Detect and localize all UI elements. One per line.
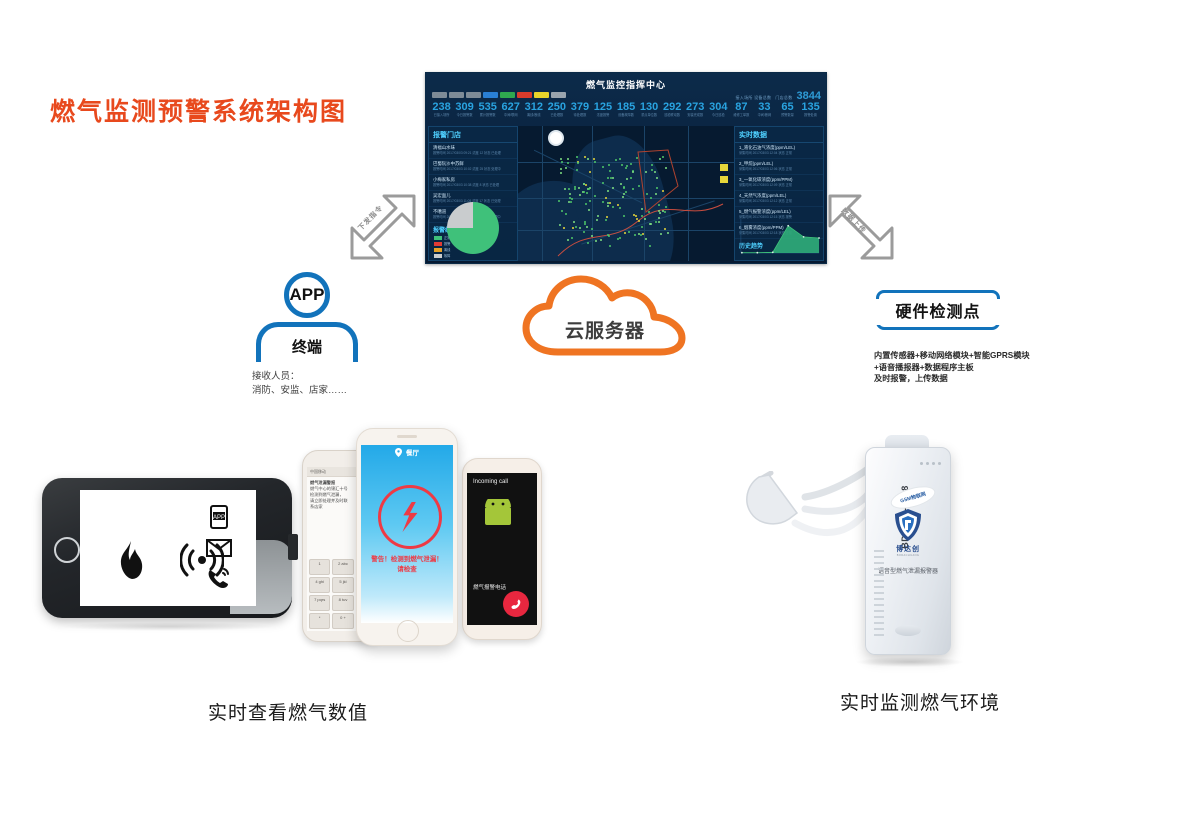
dashboard-realtime-panel: 实时数据 1_液化石油气浓度(ppm/LEL)采集时间 2017/03/03 1…	[734, 126, 824, 261]
alarm-panel-title: 报警门店	[429, 127, 517, 143]
map-dot	[563, 227, 565, 229]
cloud-server-node: 云服务器	[520, 272, 690, 360]
kpi-caption: 设备故障数	[615, 113, 638, 118]
map-dot	[615, 159, 617, 161]
kpi-caption: 浓度报警	[591, 113, 614, 118]
kpi-item-1: 309今日报警数	[453, 101, 476, 125]
keypad-key[interactable]: 8 tuv	[332, 595, 353, 611]
legend-label: 离线	[444, 247, 450, 252]
realtime-reading-meta: 采集时间 2017/03/03 12:09 状态 正常	[739, 183, 819, 188]
map-dot	[586, 192, 588, 194]
gas-alert-phone: 餐厅 警告！检测到燃气泄漏！ 请检查	[356, 428, 458, 646]
map-dot	[579, 194, 581, 196]
flame-icon	[116, 540, 146, 580]
keypad-key[interactable]: 4 ghi	[309, 577, 330, 593]
kpi-value: 312	[522, 101, 545, 113]
alarm-store-meta: 报警时间 2017/03/03 10:02 浓度 25 状态 处理中	[433, 167, 513, 172]
cloud-server-label: 云服务器	[520, 316, 690, 343]
phone-alert-channel-icons: APP	[196, 500, 242, 596]
app-body-shape: 终端	[256, 322, 358, 362]
realtime-reading-meta: 采集时间 2017/03/03 12:06 状态 正常	[739, 167, 819, 172]
alarm-store-row[interactable]: 清福山水味报警时间 2017/03/03 09:21 浓度 12 状态 已处理	[429, 143, 517, 159]
map-dot	[578, 187, 580, 189]
kpi-caption: 累计报警数	[476, 113, 499, 118]
map-dot	[583, 191, 585, 193]
landscape-phone-mockup: APP	[42, 478, 292, 618]
alarm-store-row[interactable]: 小梅家私房报警时间 2017/03/03 10:38 浓度 8 状态 已处理	[429, 175, 517, 191]
phone-screen[interactable]: APP	[80, 490, 256, 606]
map-dot	[658, 204, 660, 206]
mid-phone-home-button[interactable]	[397, 620, 419, 642]
status-chip-5	[517, 92, 532, 98]
kpi-caption: 巡检联动数	[661, 113, 684, 118]
map-dot	[573, 221, 575, 223]
map-dot	[665, 167, 667, 169]
kpi-item-5: 250已处理数	[545, 101, 568, 125]
kpi-value: 250	[545, 101, 568, 113]
kpi-caption: 今日巡检	[707, 113, 730, 118]
trend-point	[818, 237, 820, 239]
kpi-value: 309	[453, 101, 476, 113]
kpi-caption: 安装完成数	[684, 113, 707, 118]
kpi-value: 273	[684, 101, 707, 113]
app-label: APP	[290, 285, 325, 305]
kpi-caption: 中间/断网	[753, 113, 776, 118]
keypad-key[interactable]: 7 pqrs	[309, 595, 330, 611]
map-dot	[656, 187, 658, 189]
status-chip-7	[551, 92, 566, 98]
hardware-desc-line-1: 内置传感器+移动网络模块+智能GPRS模块	[874, 350, 1030, 362]
keypad-key[interactable]: *	[309, 613, 330, 629]
hardware-desc-line-2: +语音播报器+数据程序主板	[874, 362, 1030, 374]
kpi-item-4: 312离线/断线	[522, 101, 545, 125]
app-terminal-node: APP 终端	[252, 272, 362, 362]
arrow-upload-up: 数据上传	[824, 192, 900, 264]
kpi-item-11: 273安装完成数	[684, 101, 707, 125]
kpi-item-9: 130重点单位数	[638, 101, 661, 125]
power-plug-icon	[735, 471, 813, 533]
legend-label: 报警	[444, 241, 450, 246]
kpi-item-14: 33中间/断网	[753, 101, 776, 125]
map-dot	[584, 223, 586, 225]
gas-alert-message: 警告！检测到燃气泄漏！ 请检查	[361, 555, 453, 575]
hardware-detection-node: 硬件检测点	[876, 290, 1000, 330]
map-dot	[650, 197, 652, 199]
alarm-pie-chart	[447, 202, 499, 254]
kpi-item-3: 627中间/联网	[499, 101, 522, 125]
map-dot	[559, 224, 561, 226]
keypad-key[interactable]: 2 abc	[332, 559, 353, 575]
realtime-reading-row[interactable]: 1_液化石油气浓度(ppm/LEL)采集时间 2017/03/03 12:04 …	[735, 143, 823, 159]
map-dot	[659, 158, 661, 160]
map-dot	[607, 177, 609, 179]
kpi-item-2: 535累计报警数	[476, 101, 499, 125]
map-dot	[571, 198, 573, 200]
map-dot	[558, 200, 560, 202]
incoming-call-text: Incoming call	[467, 473, 537, 485]
alarm-store-meta: 报警时间 2017/03/03 09:21 浓度 12 状态 已处理	[433, 151, 513, 156]
alarm-store-row[interactable]: 巴蜀阮沙中苏鲜报警时间 2017/03/03 10:02 浓度 25 状态 处理…	[429, 159, 517, 175]
map-dot	[593, 158, 595, 160]
terminal-label: 终端	[292, 336, 322, 357]
map-dot	[664, 211, 666, 213]
gsm-badge-label: GSM物联网	[899, 491, 926, 505]
map-dot	[565, 213, 567, 215]
device-indicator-led	[895, 625, 921, 636]
realtime-panel-title: 实时数据	[735, 127, 823, 143]
caption-left: 实时查看燃气数值	[208, 698, 368, 725]
map-dot	[625, 191, 627, 193]
app-receivers-description: 接收人员： 消防、安监、店家……	[252, 370, 347, 398]
arrow-command-down: 下发指令	[344, 192, 420, 264]
gas-alert-line-1: 警告！检测到燃气泄漏！	[361, 555, 453, 565]
phone-handset-icon	[509, 597, 523, 611]
map-dot	[570, 201, 572, 203]
realtime-reading-row[interactable]: 3_一氧化碳浓度(ppm/PPM)采集时间 2017/03/03 12:09 状…	[735, 175, 823, 191]
map-dot	[595, 240, 597, 242]
map-dot	[585, 203, 587, 205]
map-dot	[625, 167, 627, 169]
kpi-caption: 已接入场所	[430, 113, 453, 118]
map-dot	[665, 206, 667, 208]
kpi-value: 185	[615, 101, 638, 113]
phone-cluster: 中国移动 燃气泄漏警报 燃气中心的锦汇十号检测到燃气泄漏，请立即处理并及时联系店…	[302, 428, 542, 648]
kpi-value: 87	[730, 101, 753, 113]
trend-point	[787, 225, 789, 227]
receivers-line-1: 接收人员：	[252, 370, 347, 384]
android-robot-icon	[481, 499, 515, 529]
map-dot	[659, 212, 661, 214]
map-dot	[656, 177, 658, 179]
kpi-item-12: 304今日巡检	[707, 101, 730, 125]
map-dot	[564, 188, 566, 190]
kpi-value: 135	[799, 101, 822, 113]
gas-alert-line-2: 请检查	[361, 565, 453, 575]
status-chip-0	[432, 92, 447, 98]
legend-label: 故障	[444, 253, 450, 258]
gas-detector-device: BDC-YD-8668 GSM物联网 博达创 BODACHUANG 语音型燃气泄…	[735, 425, 1035, 670]
incoming-call-phone: Incoming call 燃气报警电话	[462, 458, 542, 640]
map-dot	[567, 158, 569, 160]
hardware-description: 内置传感器+移动网络模块+智能GPRS模块 +语音播报器+数据程序主板 及时报警…	[874, 350, 1030, 385]
map-dot	[594, 161, 596, 163]
map-dot	[589, 200, 591, 202]
caller-name: 燃气报警电话	[473, 583, 506, 591]
map-dot	[619, 237, 621, 239]
device-shadow	[855, 657, 965, 667]
kpi-item-16: 135报警处置	[799, 101, 822, 125]
map-dot	[574, 186, 576, 188]
map-dot	[575, 226, 577, 228]
map-dot	[609, 170, 611, 172]
map-dot	[568, 201, 570, 203]
trend-point	[741, 252, 743, 254]
realtime-reading-meta: 采集时间 2017/03/03 12:04 状态 正常	[739, 151, 819, 156]
map-dot	[620, 183, 622, 185]
gas-alert-screen[interactable]: 餐厅 警告！检测到燃气泄漏！ 请检查	[361, 445, 453, 623]
map-highlight-route	[518, 126, 734, 261]
kpi-item-0: 238已接入场所	[430, 101, 453, 125]
map-dot	[591, 228, 593, 230]
map-dot	[600, 239, 602, 241]
keypad-key[interactable]: 1	[309, 559, 330, 575]
realtime-reading-row[interactable]: 4_天然气浓度(ppm/LEL)采集时间 2017/03/03 12:12 状态…	[735, 191, 823, 207]
kpi-caption: 重点单位数	[638, 113, 661, 118]
phone-speaker-notch	[397, 435, 417, 438]
status-chip-4	[500, 92, 515, 98]
map-dot	[608, 164, 610, 166]
dashboard-map[interactable]	[518, 126, 734, 261]
device-sensor-grill	[874, 550, 884, 636]
hardware-desc-line-3: 及时报警，上传数据	[874, 373, 1030, 385]
location-pin-icon	[395, 448, 402, 457]
map-dot	[612, 177, 614, 179]
app-phone-icon: APP	[209, 505, 229, 529]
status-chip-2	[466, 92, 481, 98]
decline-call-icon[interactable]	[503, 591, 529, 617]
trend-point	[772, 251, 774, 253]
dashboard-kpi-row: 238已接入场所309今日报警数535累计报警数627中间/联网312离线/断线…	[430, 101, 822, 125]
map-dot	[560, 158, 562, 160]
map-dot	[623, 186, 625, 188]
svg-text:APP: APP	[213, 515, 225, 521]
map-dot	[617, 204, 619, 206]
map-dot	[651, 169, 653, 171]
kpi-caption: 待处理数	[568, 113, 591, 118]
phone-side-button[interactable]	[288, 534, 298, 560]
kpi-value: 379	[568, 101, 591, 113]
device-body: BDC-YD-8668 GSM物联网 博达创 BODACHUANG 语音型燃气泄…	[865, 447, 951, 655]
kpi-value: 65	[776, 101, 799, 113]
kpi-value: 535	[476, 101, 499, 113]
caption-right: 实时监测燃气环境	[840, 688, 1000, 715]
kpi-item-7: 125浓度报警	[591, 101, 614, 125]
phone-home-button[interactable]	[54, 537, 80, 563]
map-dot	[623, 193, 625, 195]
map-dot	[638, 220, 640, 222]
map-dot	[655, 221, 657, 223]
kpi-item-15: 65预警数量	[776, 101, 799, 125]
legend-swatch	[434, 236, 442, 240]
kpi-value: 292	[661, 101, 684, 113]
kpi-value: 238	[430, 101, 453, 113]
status-chip-1	[449, 92, 464, 98]
kpi-value: 304	[707, 101, 730, 113]
phone-shadow	[60, 622, 275, 631]
trend-point	[803, 236, 805, 238]
envelope-icon	[206, 539, 232, 557]
status-chip-3	[483, 92, 498, 98]
alarm-store-meta: 报警时间 2017/03/03 10:38 浓度 8 状态 已处理	[433, 183, 513, 188]
brand-shield-icon	[893, 508, 923, 542]
history-trend-chart	[737, 213, 821, 257]
command-center-dashboard: 燃气监控指挥中心 接入场所 设备总数 门店总数 3844 238已接入场所309…	[425, 72, 827, 264]
realtime-reading-row[interactable]: 2_甲烷(ppm/LEL)采集时间 2017/03/03 12:06 状态 正常	[735, 159, 823, 175]
map-dot	[638, 185, 640, 187]
map-dot	[612, 187, 614, 189]
device-vent-holes	[920, 462, 941, 465]
kpi-value: 33	[753, 101, 776, 113]
kpi-caption: 离线/断线	[522, 113, 545, 118]
page-title: 燃气监测预警系统架构图	[50, 92, 347, 128]
hardware-label: 硬件检测点	[895, 298, 980, 322]
gas-leak-alert-icon	[378, 485, 442, 549]
kpi-item-10: 292巡检联动数	[661, 101, 684, 125]
call-phone-screen[interactable]: Incoming call 燃气报警电话	[467, 473, 537, 625]
alert-app-header: 餐厅	[361, 445, 453, 459]
map-dot	[602, 182, 604, 184]
map-dot	[621, 164, 623, 166]
app-head-circle: APP	[284, 272, 330, 318]
map-dot	[628, 231, 630, 233]
dashboard-alarm-store-panel: 报警门店 清福山水味报警时间 2017/03/03 09:21 浓度 12 状态…	[428, 126, 518, 261]
map-dot	[658, 221, 660, 223]
status-chip-6	[534, 92, 549, 98]
kpi-caption: 今日报警数	[453, 113, 476, 118]
kpi-caption: 预警数量	[776, 113, 799, 118]
kpi-value: 130	[638, 101, 661, 113]
kpi-caption: 中间/联网	[499, 113, 522, 118]
map-dot	[649, 245, 651, 247]
kpi-item-6: 379待处理数	[568, 101, 591, 125]
kpi-caption: 报警处置	[799, 113, 822, 118]
kpi-item-8: 185设备故障数	[615, 101, 638, 125]
kpi-item-13: 87维修工单数	[730, 101, 753, 125]
keypad-key[interactable]: 0 +	[332, 613, 353, 629]
map-dot	[560, 168, 562, 170]
keypad-key[interactable]: 5 jkl	[332, 577, 353, 593]
map-dot	[568, 188, 570, 190]
legend-swatch	[434, 242, 442, 246]
kpi-caption: 已处理数	[545, 113, 568, 118]
legend-swatch	[434, 254, 442, 258]
kpi-caption: 维修工单数	[730, 113, 753, 118]
kpi-value: 627	[499, 101, 522, 113]
kpi-value: 125	[591, 101, 614, 113]
legend-swatch	[434, 248, 442, 252]
map-dot	[658, 217, 660, 219]
trend-point	[756, 252, 758, 254]
receivers-line-2: 消防、安监、店家……	[252, 384, 347, 398]
alert-location-label: 餐厅	[406, 447, 419, 457]
realtime-reading-meta: 采集时间 2017/03/03 12:12 状态 正常	[739, 199, 819, 204]
dashboard-status-chips	[432, 92, 566, 98]
ringing-phone-icon	[206, 567, 232, 591]
lightning-bolt-icon	[400, 501, 420, 533]
